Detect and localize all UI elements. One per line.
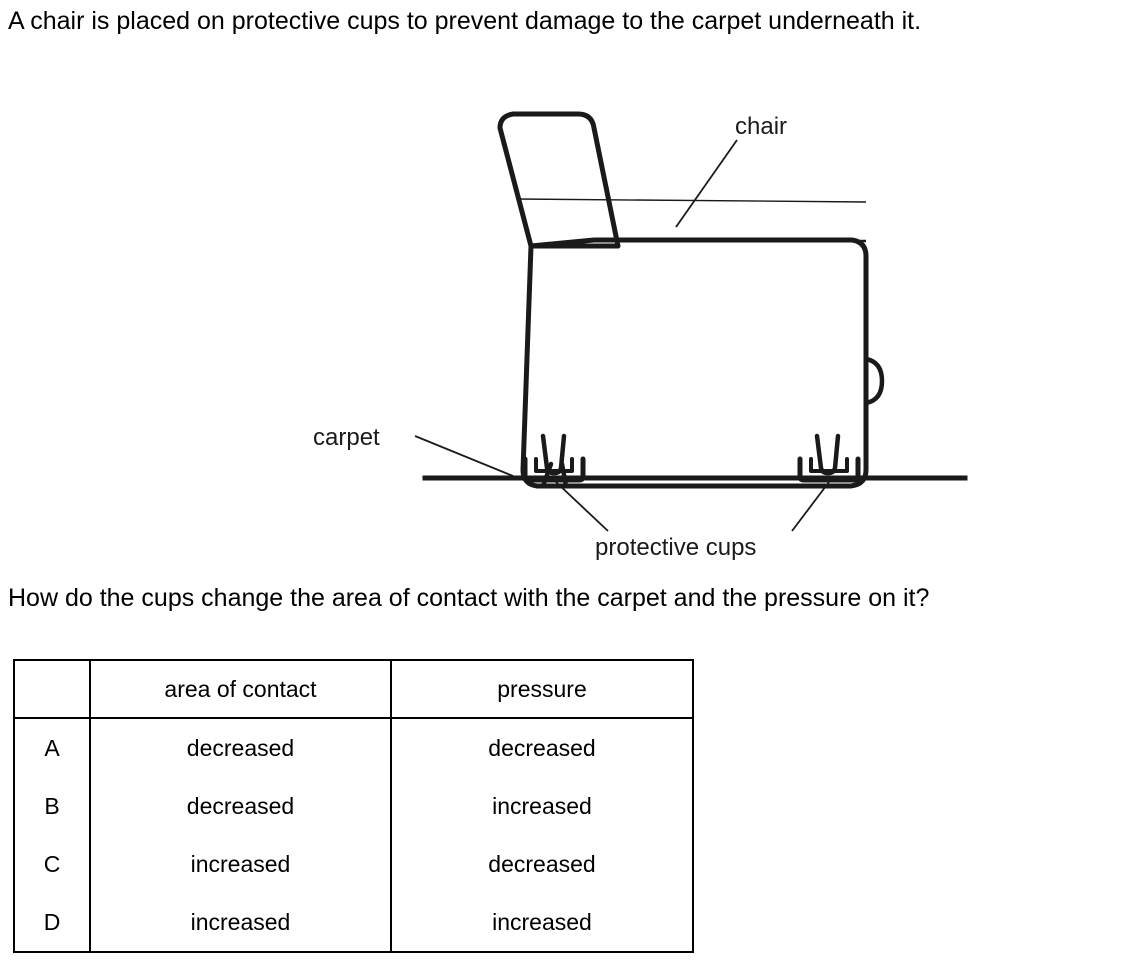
answer-options-table: area of contact pressure A decreased dec…	[13, 659, 694, 953]
carpet-label: carpet	[313, 424, 380, 451]
table-row[interactable]: D increased increased	[14, 893, 693, 952]
option-pressure-value: decreased	[391, 835, 693, 893]
chair-diagram: chair carpet protective cups	[0, 50, 1147, 560]
table-row[interactable]: C increased decreased	[14, 835, 693, 893]
protective-cups-leader-line-left	[556, 482, 608, 531]
intro-text: A chair is placed on protective cups to …	[8, 7, 921, 36]
table-row[interactable]: A decreased decreased	[14, 718, 693, 777]
table-row[interactable]: B decreased increased	[14, 777, 693, 835]
option-area-value: increased	[90, 835, 391, 893]
protective-cups-label: protective cups	[595, 534, 756, 560]
option-letter: B	[14, 777, 90, 835]
option-letter: C	[14, 835, 90, 893]
protective-cup-right-inner	[811, 459, 847, 471]
carpet-leader-line	[415, 436, 513, 476]
question-text: How do the cups change the area of conta…	[8, 584, 929, 613]
protective-cups-leader-line-right	[792, 482, 829, 531]
chair-leg-right-body	[817, 436, 838, 473]
chair-arm-seam-line	[518, 199, 866, 202]
option-pressure-value: decreased	[391, 718, 693, 777]
table-header-row: area of contact pressure	[14, 660, 693, 718]
header-cell-area-of-contact: area of contact	[90, 660, 391, 718]
protective-cup-left-inner	[536, 459, 572, 471]
header-cell-pressure: pressure	[391, 660, 693, 718]
option-area-value: decreased	[90, 777, 391, 835]
chair-leg-left-body	[543, 436, 564, 473]
option-pressure-value: increased	[391, 893, 693, 952]
chair-body-shape	[523, 240, 866, 486]
chair-back-shape	[500, 114, 618, 246]
option-letter: A	[14, 718, 90, 777]
option-area-value: increased	[90, 893, 391, 952]
option-letter: D	[14, 893, 90, 952]
option-area-value: decreased	[90, 718, 391, 777]
header-cell-blank	[14, 660, 90, 718]
option-pressure-value: increased	[391, 777, 693, 835]
chair-label: chair	[735, 113, 787, 140]
chair-leader-line	[676, 140, 737, 227]
